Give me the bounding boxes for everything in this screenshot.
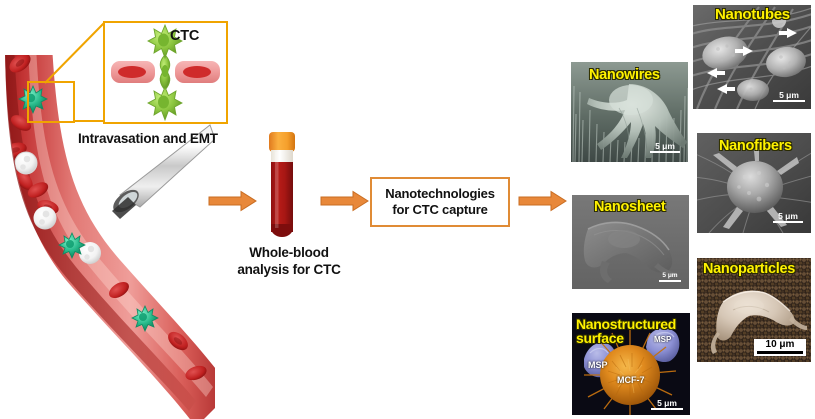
- arrow-to-panels: [518, 190, 568, 212]
- scalebar-line: [651, 408, 683, 410]
- panel-nanoparticles[interactable]: Nanoparticles 10 μm: [697, 258, 811, 362]
- tube-cap: [269, 132, 295, 152]
- scalebar-line: [650, 151, 680, 153]
- tube-plasma: [271, 150, 293, 164]
- nanotechnologies-box: Nanotechnologies for CTC capture: [370, 177, 510, 227]
- scalebar-nanoparticles: 10 μm: [754, 339, 806, 356]
- ctc-migrating: [160, 55, 170, 90]
- tube-caption-line1: Whole-blood: [249, 245, 329, 260]
- arrow-icon: [320, 190, 370, 212]
- ctc-inset-svg: [105, 23, 226, 122]
- panel-nanostructured-surface[interactable]: Nanostructured surface MSP MSP MCF-7 5 μ…: [572, 313, 690, 415]
- panel-nanotubes[interactable]: Nanotubes 5 μm: [693, 5, 811, 109]
- intravasation-caption: Intravasation and EMT: [78, 131, 218, 146]
- scalebar-nanosheet: 5 μm: [659, 273, 681, 283]
- tube-caption: Whole-blood analysis for CTC: [233, 244, 345, 279]
- scalebar-text: 5 μm: [657, 398, 677, 408]
- scalebar-text: 5 μm: [778, 211, 798, 221]
- scalebar-nanostructured-surface: 5 μm: [651, 399, 683, 411]
- scalebar-line: [773, 221, 803, 223]
- tube-caption-line2: analysis for CTC: [237, 262, 340, 277]
- nanotech-box-text: Nanotechnologies for CTC capture: [385, 186, 494, 218]
- ctc-label: CTC: [170, 28, 199, 44]
- blood-collection-tube: [262, 132, 314, 237]
- scalebar-text: 5 μm: [655, 141, 675, 151]
- scalebar-nanofibers: 5 μm: [773, 212, 803, 224]
- panel-nanowires[interactable]: Nanowires 5 μm: [571, 62, 688, 162]
- panel-nanosheet[interactable]: Nanosheet 5 μm: [572, 195, 689, 289]
- tube-blood: [271, 162, 293, 232]
- scalebar-text: 10 μm: [766, 339, 795, 350]
- ctc-cell-bottom: [148, 87, 182, 120]
- scalebar-line: [757, 351, 803, 354]
- scalebar-text: 5 μm: [662, 272, 677, 279]
- arrow-to-tube: [208, 190, 258, 212]
- scalebar-nanotubes: 5 μm: [773, 91, 805, 103]
- scalebar-nanowires: 5 μm: [650, 142, 680, 154]
- vessel-callout-rectangle: [27, 81, 75, 123]
- ctc-inset-box: [103, 21, 228, 124]
- arrow-icon: [518, 190, 568, 212]
- nanotech-line1: Nanotechnologies: [385, 186, 494, 201]
- nanotech-line2: for CTC capture: [392, 202, 487, 217]
- scalebar-line: [773, 100, 805, 102]
- figure-root: CTC Intravasation and EMT: [0, 0, 815, 419]
- arrow-to-nanotech: [320, 190, 370, 212]
- scalebar-line: [659, 280, 681, 282]
- scalebar-text: 5 μm: [779, 90, 799, 100]
- panel-nanofibers[interactable]: Nanofibers 5 μm: [697, 133, 811, 233]
- arrow-icon: [208, 190, 258, 212]
- tube-svg: [262, 132, 314, 237]
